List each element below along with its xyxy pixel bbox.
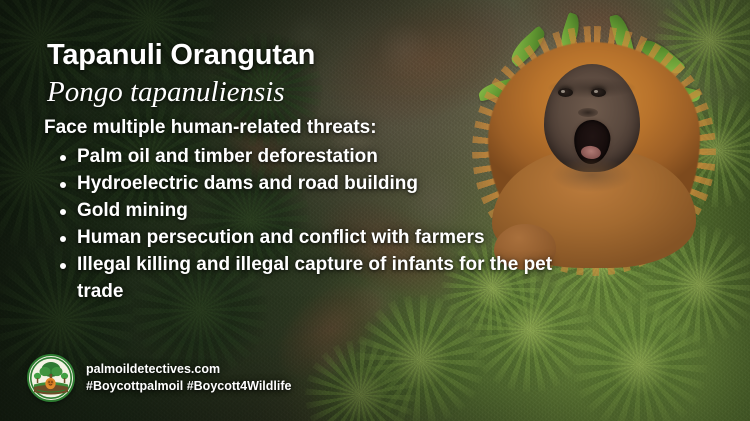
list-item-label: Human persecution and conflict with farm… bbox=[77, 227, 485, 248]
orangutan-eye-left bbox=[558, 88, 573, 97]
brand-hashtags: #Boycottpalmoil #Boycott4Wildlife bbox=[86, 378, 291, 395]
leaf bbox=[609, 13, 635, 60]
brand-website[interactable]: palmoildetectives.com bbox=[86, 361, 291, 378]
bullet-icon bbox=[60, 236, 66, 242]
palm-frond-cluster bbox=[305, 340, 415, 421]
orangutan-brow bbox=[548, 78, 636, 98]
list-item-label: Illegal killing and illegal capture of i… bbox=[77, 254, 552, 302]
list-item: Palm oil and timber deforestation bbox=[44, 144, 560, 171]
palm-frond-cluster bbox=[545, 207, 655, 317]
list-item: Hydroelectric dams and road building bbox=[44, 171, 560, 198]
palm-frond-cluster bbox=[655, 0, 750, 95]
brand-text: palmoildetectives.com #Boycottpalmoil #B… bbox=[86, 361, 291, 395]
threats-intro: Face multiple human-related threats: bbox=[44, 117, 560, 140]
palm-frond-cluster bbox=[355, 295, 485, 421]
page-title: Tapanuli Orangutan bbox=[47, 40, 560, 71]
palm-frond-cluster bbox=[573, 298, 708, 421]
palm-frond-cluster bbox=[661, 93, 750, 208]
list-item: Illegal killing and illegal capture of i… bbox=[44, 252, 560, 306]
orangutan-tongue bbox=[580, 145, 601, 160]
list-item: Gold mining bbox=[44, 198, 560, 225]
orangutan-open-mouth bbox=[572, 118, 612, 166]
orangutan-chin bbox=[552, 158, 632, 192]
palm-frond-cluster bbox=[640, 225, 750, 345]
leaf bbox=[557, 12, 584, 55]
leaf bbox=[657, 81, 702, 107]
orangutan-eye-right bbox=[591, 88, 606, 97]
infographic-poster: Tapanuli Orangutan Pongo tapanuliensis F… bbox=[0, 0, 750, 421]
brand-footer[interactable]: palmoildetectives.com #Boycottpalmoil #B… bbox=[27, 354, 291, 402]
bullet-icon bbox=[60, 155, 66, 161]
list-item-label: Palm oil and timber deforestation bbox=[77, 146, 378, 167]
list-item-label: Gold mining bbox=[77, 200, 188, 221]
threats-list: Palm oil and timber deforestation Hydroe… bbox=[44, 144, 560, 306]
text-content: Tapanuli Orangutan Pongo tapanuliensis F… bbox=[0, 0, 560, 306]
list-item-label: Hydroelectric dams and road building bbox=[77, 173, 418, 194]
bullet-icon bbox=[60, 209, 66, 215]
palm-oil-detectives-logo-icon[interactable] bbox=[27, 354, 75, 402]
bullet-icon bbox=[60, 182, 66, 188]
orangutan-nose bbox=[578, 108, 598, 117]
list-item: Human persecution and conflict with farm… bbox=[44, 225, 560, 252]
bullet-icon bbox=[60, 263, 66, 269]
leaf bbox=[638, 34, 686, 79]
scientific-name: Pongo tapanuliensis bbox=[47, 77, 560, 109]
